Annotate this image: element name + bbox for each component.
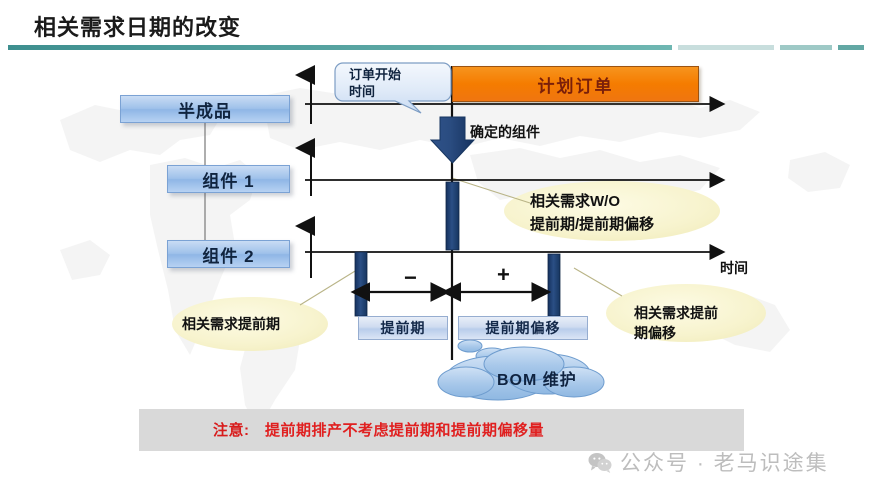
lead-time-box[interactable]: 提前期	[358, 316, 448, 340]
negative-sign: −	[404, 265, 417, 291]
positive-sign: +	[497, 262, 510, 288]
confirmed-component-label: 确定的组件	[470, 122, 540, 142]
note-text: 提前期排产不考虑提前期和提前期偏移量	[265, 419, 544, 440]
planned-order-bar[interactable]: 计划订单	[452, 66, 699, 102]
wechat-icon	[588, 452, 612, 473]
callout-related-demand-leadtime-offset-label: 相关需求提前 期偏移	[634, 303, 718, 343]
bom-cloud-label: BOM 维护	[497, 366, 577, 390]
order-start-callout-label: 订单开始 时间	[349, 66, 441, 100]
note-label: 注意:	[213, 419, 250, 440]
navy-marker-center	[446, 182, 459, 250]
slide-canvas: 相关需求日期的改变 半成品 组件 1 组件 2	[0, 0, 872, 491]
navy-marker-right	[548, 254, 560, 316]
time-axis-label: 时间	[720, 258, 748, 278]
callout-related-demand-wo-label: 相关需求W/O 提前期/提前期偏移	[530, 190, 654, 236]
order-start-callout[interactable]: 订单开始 时间	[341, 62, 445, 103]
watermark: 公众号 · 老马识途集	[588, 447, 829, 477]
navy-marker-left	[355, 252, 367, 316]
planned-order-label: 计划订单	[538, 72, 614, 97]
lead-time-box-label: 提前期	[381, 318, 426, 338]
lead-time-offset-box-label: 提前期偏移	[486, 318, 561, 338]
callout-related-demand-leadtime-shape	[172, 268, 360, 351]
callout-related-demand-leadtime-label: 相关需求提前期	[182, 314, 280, 334]
confirmed-component-arrow	[431, 117, 474, 163]
watermark-text: 公众号 · 老马识途集	[620, 447, 829, 477]
lead-time-offset-box[interactable]: 提前期偏移	[458, 316, 588, 340]
